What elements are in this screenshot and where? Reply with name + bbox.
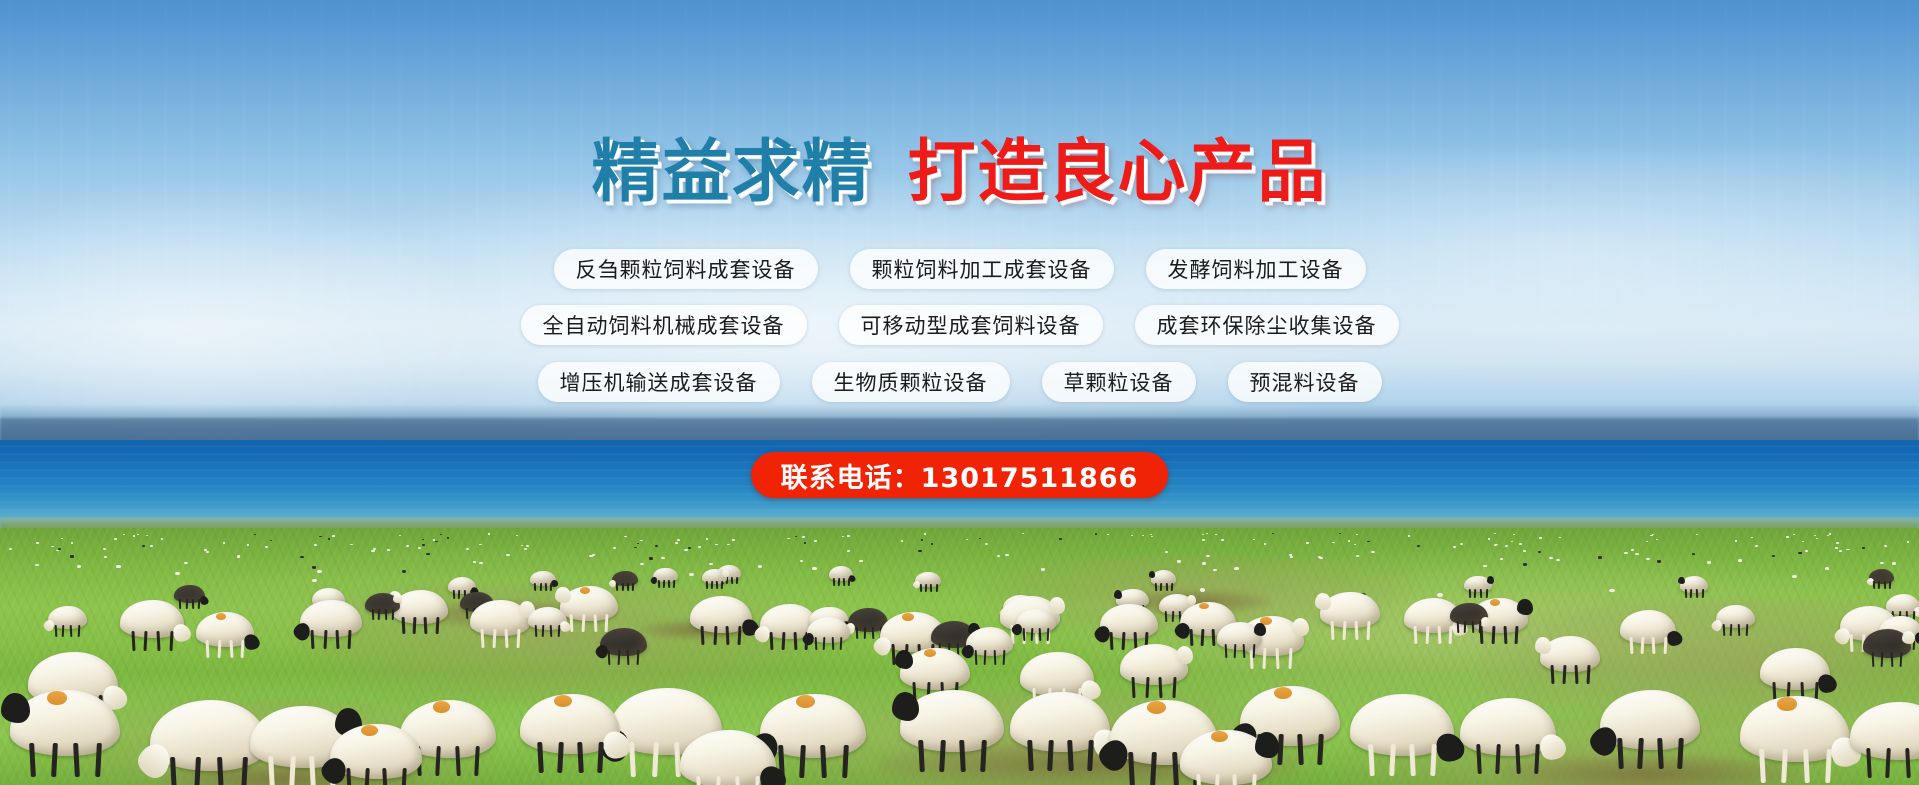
distant-sheep (640, 563, 644, 566)
distant-sheep (1805, 550, 1808, 552)
distant-sheep (802, 536, 804, 537)
distant-sheep (1453, 546, 1456, 548)
page-title: 精益求精打造良心产品 (0, 139, 1919, 207)
sheep (1180, 730, 1272, 785)
distant-sheep (698, 546, 701, 548)
sheep-head (1902, 631, 1914, 644)
distant-sheep (677, 539, 679, 541)
sheep-leg (1023, 628, 1026, 641)
category-pill[interactable]: 可移动型成套饲料设备 (839, 305, 1103, 345)
sheep-marking (1490, 599, 1500, 606)
distant-sheep (1792, 575, 1797, 578)
sheep-marking (433, 701, 450, 713)
sheep-marking (580, 587, 590, 594)
sheep (1600, 690, 1700, 750)
category-pill[interactable]: 反刍颗粒饲料成套设备 (554, 249, 818, 289)
sheep (1450, 603, 1488, 626)
distant-sheep (1519, 543, 1522, 545)
distant-sheep (1657, 560, 1661, 562)
sheep-head (895, 650, 913, 669)
headline-secondary: 打造良心产品 (908, 139, 1328, 207)
distant-sheep (1539, 537, 1541, 538)
distant-sheep (36, 542, 39, 544)
category-pill[interactable]: 预混料设备 (1228, 362, 1382, 402)
sheep-leg (1437, 626, 1441, 644)
sheep (807, 617, 850, 643)
distant-sheep (814, 540, 817, 542)
distant-sheep (1165, 551, 1168, 553)
sheep-leg (185, 599, 188, 609)
sheep-marking (47, 691, 67, 704)
distant-sheep (270, 540, 272, 542)
sheep-leg (636, 650, 639, 665)
sheep (1320, 592, 1380, 628)
sheep-leg (192, 599, 195, 609)
sheep-leg (1480, 589, 1482, 598)
sheep-leg (847, 578, 849, 586)
distant-sheep (526, 545, 529, 547)
distant-sheep (1631, 549, 1634, 551)
sheep (1120, 644, 1188, 685)
distant-sheep (812, 567, 816, 570)
category-pill[interactable]: 发酵饲料加工设备 (1146, 249, 1366, 289)
sheep (1869, 569, 1894, 584)
distant-sheep (1505, 545, 1508, 547)
sheep (365, 593, 399, 614)
distant-sheep (1793, 534, 1795, 535)
distant-sheep (1095, 533, 1097, 534)
sheep (470, 600, 530, 636)
sheep (612, 571, 638, 587)
sheep (1680, 576, 1708, 593)
sheep (1217, 622, 1262, 649)
sheep (1760, 648, 1830, 690)
sheep-leg (229, 640, 233, 658)
sheep (900, 690, 1004, 752)
distant-sheep (847, 550, 850, 552)
sheep-leg (754, 776, 760, 785)
sheep (1540, 636, 1600, 672)
sheep-leg (452, 590, 454, 599)
distant-sheep (1417, 545, 1420, 547)
distant-sheep (689, 573, 694, 576)
distant-sheep (1367, 541, 1370, 543)
distant-sheep (1523, 563, 1527, 566)
sheep (560, 586, 618, 621)
distant-sheep (859, 560, 863, 562)
sheep-leg (939, 740, 945, 773)
distant-sheep (133, 535, 135, 536)
category-pill[interactable]: 草颗粒设备 (1042, 362, 1196, 402)
distant-sheep (732, 539, 734, 541)
distant-sheep (237, 555, 241, 557)
distant-sheep (1151, 536, 1153, 537)
sheep-leg (1888, 581, 1890, 589)
sheep (1740, 696, 1850, 762)
sheep-leg (593, 614, 597, 632)
distant-sheep (422, 544, 425, 546)
sheep-marking (1211, 731, 1228, 742)
distant-sheep (1772, 555, 1776, 557)
distant-sheep (1825, 567, 1829, 570)
distant-sheep (1200, 588, 1206, 592)
sheep (690, 596, 752, 633)
distant-sheep (1318, 556, 1322, 558)
distant-sheep (1735, 540, 1738, 542)
distant-sheep (1624, 552, 1627, 554)
distant-sheep (1829, 533, 1831, 534)
sheep-leg (1503, 626, 1507, 644)
distant-sheep (924, 533, 926, 534)
sheep (1020, 652, 1094, 696)
distant-sheep (406, 545, 409, 547)
sheep (1460, 698, 1556, 756)
sheep (829, 566, 853, 581)
distant-sheep (787, 538, 789, 539)
distant-sheep (1523, 550, 1526, 552)
category-pill[interactable]: 颗粒饲料加工成套设备 (850, 249, 1114, 289)
sheep-head (1, 693, 30, 723)
sheep-head (1254, 623, 1266, 635)
sheep-leg (1171, 582, 1173, 590)
sheep (702, 569, 727, 584)
distant-sheep (184, 562, 188, 564)
distant-sheep (402, 570, 407, 573)
distant-sheep (150, 545, 153, 547)
sheep (915, 572, 941, 588)
sheep (1716, 605, 1755, 628)
distant-sheep (314, 544, 317, 546)
sheep-leg (974, 650, 977, 665)
distant-sheep (319, 536, 321, 537)
distant-sheep (1306, 542, 1309, 544)
sheep-marking (216, 613, 226, 620)
sheep (1016, 609, 1056, 633)
sheep-leg (863, 627, 866, 640)
sheep-marking (1777, 697, 1797, 710)
sheep-head (892, 692, 919, 721)
distant-sheep (675, 542, 678, 544)
category-pill[interactable]: 成套环保除尘收集设备 (1135, 305, 1399, 345)
sheep-head (1255, 732, 1279, 757)
sheep-leg (364, 768, 370, 785)
distant-sheep (918, 550, 921, 552)
sheep (900, 648, 970, 690)
sheep-leg (833, 578, 835, 586)
sheep (1350, 694, 1454, 756)
sheep-leg (935, 584, 937, 592)
distant-sheep (254, 534, 256, 535)
distant-sheep (161, 538, 163, 540)
sheep-leg (672, 579, 674, 587)
sheep-head (1149, 571, 1156, 578)
distant-sheep (1059, 538, 1061, 540)
sheep (196, 612, 254, 647)
distant-sheep (1150, 534, 1152, 535)
sheep (680, 730, 776, 785)
sheep (120, 600, 184, 638)
sheep-leg (621, 583, 623, 591)
distant-sheep (1646, 558, 1650, 560)
sheep-head (1315, 593, 1331, 610)
sheep-leg (663, 579, 665, 587)
distant-sheep (116, 565, 120, 568)
sheep (300, 600, 362, 637)
sheep (966, 627, 1013, 655)
sheep-leg (1471, 621, 1474, 633)
distant-sheep (223, 542, 226, 544)
sheep-leg (1722, 624, 1725, 636)
distant-sheep (1177, 560, 1181, 562)
sheep-leg (1469, 589, 1471, 598)
sheep (330, 724, 422, 779)
distant-sheep (1798, 552, 1801, 554)
sheep-leg (855, 627, 858, 640)
distant-sheep (1696, 534, 1698, 535)
category-pill-row-3: 增压机输送成套设备生物质颗粒设备草颗粒设备预混料设备 (0, 362, 1919, 402)
distant-sheep (1408, 535, 1410, 536)
distant-sheep (1488, 538, 1490, 540)
distant-sheep (1892, 562, 1896, 565)
distant-sheep (332, 535, 334, 536)
distant-sheep (1202, 562, 1206, 565)
sheep (10, 690, 120, 756)
sheep (520, 694, 620, 754)
sheep-leg (371, 609, 374, 620)
distant-sheep (435, 541, 438, 543)
distant-sheep (1437, 593, 1443, 597)
distant-sheep (312, 566, 316, 569)
sheep-marking (796, 695, 815, 708)
sheep-leg (1251, 774, 1257, 785)
distant-sheep (1598, 556, 1602, 558)
sheep-head (1678, 577, 1685, 585)
sheep-leg (289, 756, 295, 785)
category-pill[interactable]: 增压机输送成套设备 (538, 362, 780, 402)
sheep-leg (534, 625, 537, 637)
distant-sheep (1371, 551, 1374, 553)
sheep-leg (871, 627, 874, 640)
sheep-leg (814, 637, 817, 651)
sheep-leg (793, 632, 797, 650)
sheep-head (1535, 637, 1551, 654)
sheep-head (1487, 576, 1494, 584)
sheep-leg (1701, 589, 1703, 598)
sheep-leg (1663, 637, 1666, 655)
sheep-head (1114, 590, 1123, 599)
sheep-leg (713, 626, 717, 645)
sheep-leg (435, 617, 438, 635)
sheep-leg (993, 650, 996, 665)
sheep-leg (838, 578, 840, 586)
sheep-leg (658, 579, 660, 587)
sheep-leg (920, 584, 922, 592)
distant-sheep (847, 535, 849, 536)
distant-sheep (1234, 567, 1238, 570)
distant-sheep (1513, 534, 1515, 535)
sheep-leg (736, 577, 738, 585)
sheep-leg (1389, 744, 1395, 777)
sheep-leg (1883, 581, 1885, 589)
sheep-head (393, 594, 402, 603)
sheep (1620, 610, 1676, 644)
sheep-leg (1165, 582, 1167, 590)
distant-sheep (204, 549, 207, 551)
distant-sheep (114, 538, 116, 540)
sheep (653, 568, 678, 583)
distant-sheep (506, 554, 509, 556)
sheep-marking (902, 613, 914, 621)
sheep (1010, 692, 1110, 752)
sheep-leg (1456, 621, 1459, 633)
sheep-leg (667, 579, 669, 587)
distant-sheep (1460, 543, 1463, 545)
category-pill[interactable]: 全自动饲料机械成套设备 (521, 305, 807, 345)
distant-mountain-ridge-near (0, 418, 1919, 442)
sheep-leg (1485, 589, 1487, 598)
distant-sheep (1483, 565, 1487, 568)
distant-sheep (175, 572, 180, 575)
distant-sheep (1755, 545, 1758, 547)
distant-sheep (1839, 550, 1842, 552)
distant-sheep (649, 557, 653, 559)
headline-primary: 精益求精 (591, 139, 871, 207)
distant-sheep (70, 555, 74, 557)
sheep-leg (131, 631, 135, 651)
sheep-leg (323, 630, 327, 649)
sheep-leg (1214, 774, 1220, 785)
sheep-head (1517, 599, 1532, 615)
distant-sheep (1884, 545, 1887, 547)
distant-sheep (1202, 539, 1204, 541)
distant-sheep (1206, 555, 1210, 557)
sheep-marking (361, 725, 378, 736)
sheep-leg (842, 578, 844, 586)
sheep (528, 607, 567, 631)
distant-sheep (1635, 553, 1638, 555)
distant-sheep (1738, 559, 1742, 561)
sheep-leg (831, 637, 834, 651)
distant-sheep (985, 543, 988, 545)
sheep-leg (545, 583, 547, 591)
distant-sheep (979, 538, 981, 539)
sheep-leg (1696, 589, 1698, 598)
sheep (48, 606, 87, 629)
category-pill-row-2: 全自动饲料机械成套设备可移动型成套饲料设备成套环保除尘收集设备 (0, 305, 1919, 345)
sheep-head (555, 587, 570, 603)
distant-sheep (77, 565, 81, 568)
distant-sheep (1131, 535, 1133, 536)
distant-sheep (146, 535, 148, 536)
sheep-leg (54, 625, 57, 637)
category-pill-row-1: 反刍颗粒饲料成套设备颗粒饲料加工成套设备发酵饲料加工设备 (0, 249, 1919, 289)
distant-sheep (104, 556, 108, 558)
sheep-head (722, 570, 729, 577)
distant-sheep (328, 538, 330, 540)
sheep (530, 571, 556, 587)
sheep-leg (627, 583, 629, 591)
category-pill[interactable]: 生物质颗粒设备 (812, 362, 1010, 402)
distant-sheep (688, 547, 691, 549)
distant-sheep (1836, 542, 1839, 544)
distant-sheep (613, 547, 616, 549)
distant-sheep (206, 551, 209, 553)
sheep (600, 628, 647, 656)
distant-sheep (1221, 539, 1223, 541)
contact-phone-button[interactable]: 联系电话：13017511866 (751, 452, 1169, 498)
distant-sheep (142, 545, 145, 547)
sheep (1151, 570, 1177, 585)
sheep (1464, 576, 1492, 593)
sheep-leg (539, 583, 541, 591)
distant-sheep (103, 548, 106, 550)
distant-sheep (1835, 547, 1838, 549)
distant-sheep (1786, 536, 1788, 537)
distant-sheep (727, 544, 730, 546)
distant-sheep (1348, 540, 1351, 542)
sheep-leg (401, 768, 407, 785)
distant-sheep (1356, 555, 1360, 557)
sheep (1100, 604, 1158, 639)
distant-sheep (1907, 541, 1910, 543)
sheep (1850, 702, 1919, 760)
sheep-head (1176, 646, 1194, 665)
distant-sheep (921, 539, 923, 541)
sheep-leg (1252, 644, 1255, 658)
distant-sheep (433, 539, 435, 541)
sheep (1863, 629, 1911, 658)
distant-sheep (440, 534, 442, 535)
distant-sheep (706, 538, 708, 540)
distant-sheep (247, 544, 250, 546)
distant-sheep (371, 550, 374, 552)
sheep-leg (1685, 589, 1687, 598)
hero-banner: 精益求精打造良心产品 反刍颗粒饲料成套设备颗粒饲料加工成套设备发酵饲料加工设备 … (0, 0, 1919, 785)
distant-sheep (1264, 543, 1267, 545)
